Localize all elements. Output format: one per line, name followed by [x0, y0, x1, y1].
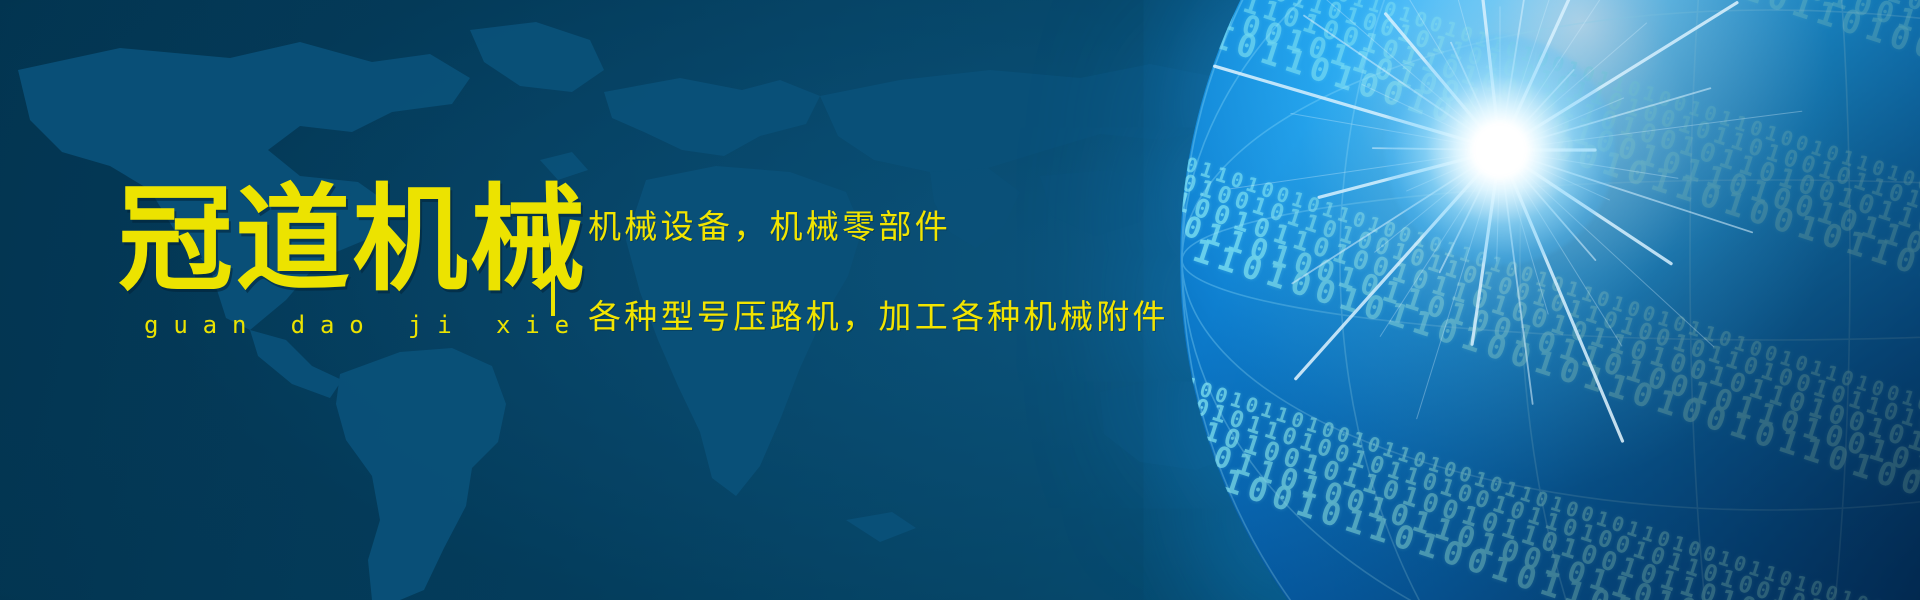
- tagline-primary: 机械设备，机械零部件: [588, 200, 1288, 248]
- tagline-secondary: 各种型号压路机，加工各种机械附件: [588, 290, 1288, 338]
- banner-content: 冠道机械 guan dao ji xie 机械设备，机械零部件 各种型号压路机，…: [0, 0, 1920, 600]
- promotional-banner: 1001011010010110100101101001011010010110…: [0, 0, 1920, 600]
- company-logo[interactable]: 冠道机械 guan dao ji xie: [118, 182, 538, 339]
- logo-pinyin: guan dao ji xie: [118, 311, 538, 339]
- tagline-group: 机械设备，机械零部件 各种型号压路机，加工各种机械附件: [588, 192, 1288, 338]
- logo-title: 冠道机械: [118, 182, 538, 299]
- vertical-divider: [551, 186, 555, 316]
